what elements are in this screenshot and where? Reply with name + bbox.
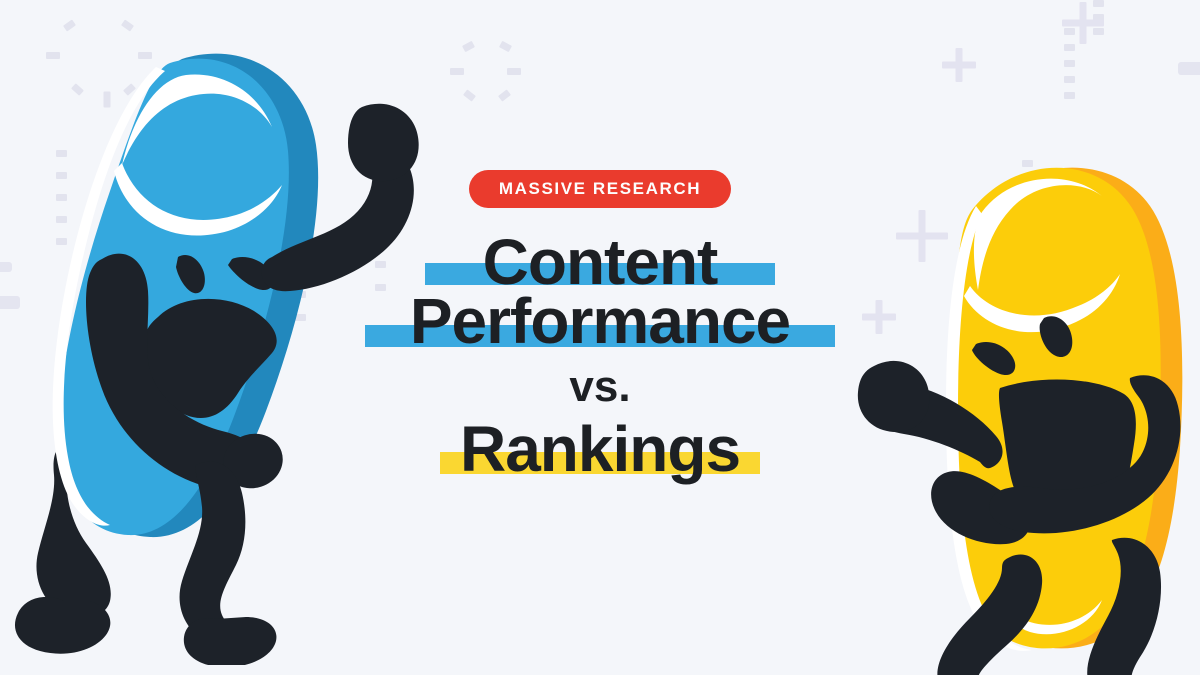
bar-decor xyxy=(1178,62,1200,75)
headline-text: Content xyxy=(483,232,718,293)
headline-line-content: Content xyxy=(0,232,1200,293)
status-badge: MASSIVE RESEARCH xyxy=(469,170,731,208)
headline-text: Rankings xyxy=(460,419,740,480)
title-block: MASSIVE RESEARCH Content Performance vs.… xyxy=(0,170,1200,480)
headline-connector: vs. xyxy=(0,365,1200,409)
headline-line-rankings: Rankings xyxy=(0,419,1200,480)
headline-text: Performance xyxy=(410,291,790,352)
plus-icon xyxy=(942,48,976,82)
plus-icon xyxy=(1062,2,1104,44)
poster-canvas: MASSIVE RESEARCH Content Performance vs.… xyxy=(0,0,1200,675)
headline-line-performance: Performance xyxy=(0,291,1200,352)
headline: Content Performance vs. Rankings xyxy=(0,232,1200,480)
